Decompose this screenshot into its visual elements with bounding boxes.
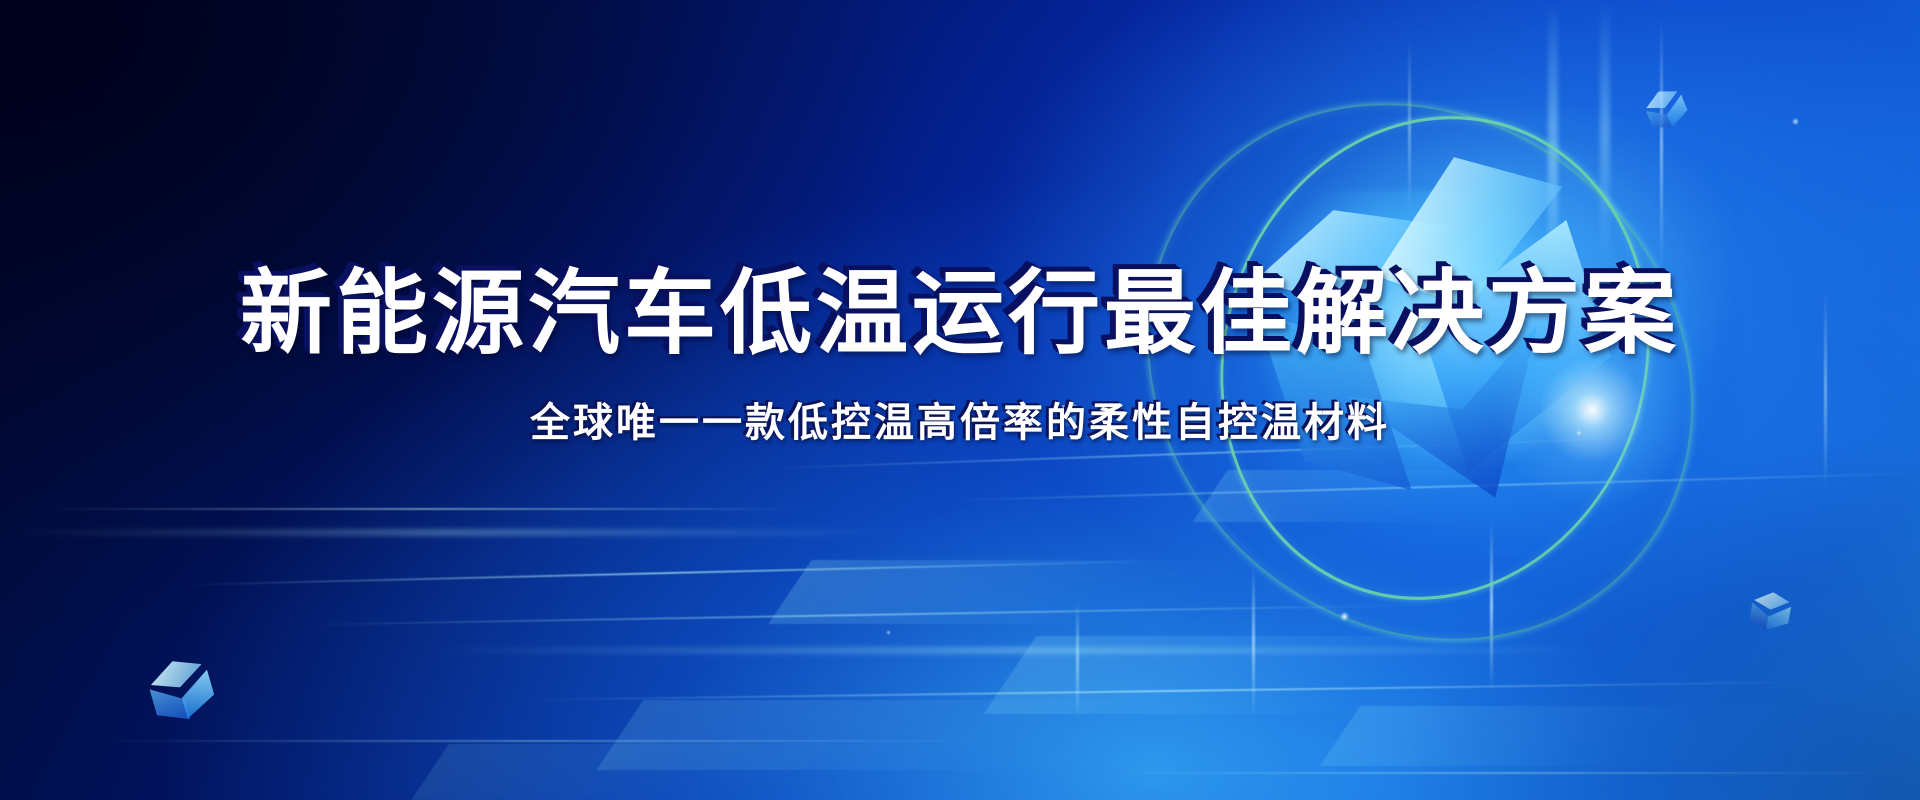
- banner-text-block: 新能源汽车低温运行最佳解决方案 全球唯一一款低控温高倍率的柔性自控温材料: [0, 268, 1920, 448]
- hero-banner: 新能源汽车低温运行最佳解决方案 全球唯一一款低控温高倍率的柔性自控温材料: [0, 0, 1920, 800]
- page-title: 新能源汽车低温运行最佳解决方案: [0, 268, 1920, 360]
- page-subtitle: 全球唯一一款低控温高倍率的柔性自控温材料: [0, 390, 1920, 448]
